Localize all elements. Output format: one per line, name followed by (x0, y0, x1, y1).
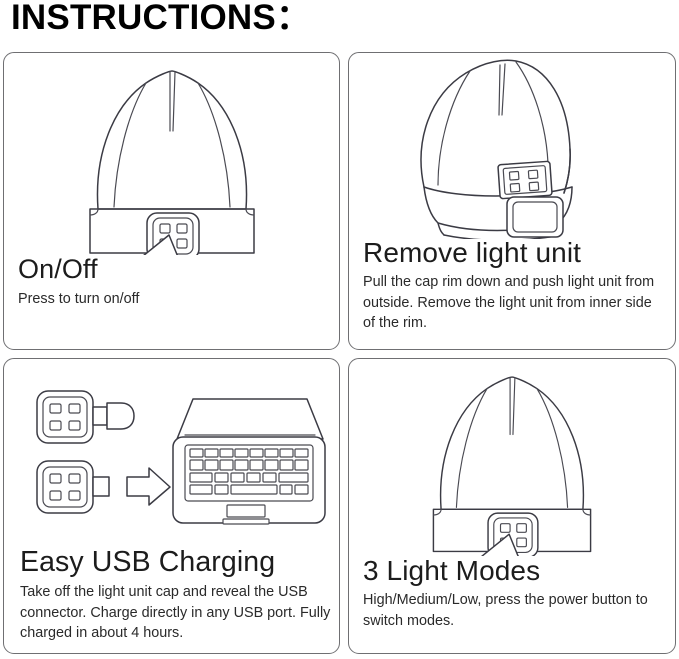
panel-heading: On/Off (18, 253, 327, 286)
panel-body: Take off the light unit cap and reveal t… (20, 582, 331, 644)
panel-remove-light-unit: Remove light unit Pull the cap rim down … (348, 52, 676, 350)
panel-body: High/Medium/Low, press the power button … (363, 590, 663, 631)
panel-body: Pull the cap rim down and push light uni… (363, 272, 663, 334)
illustration-beanie-press (4, 57, 339, 255)
caption-remove-light-unit: Remove light unit Pull the cap rim down … (363, 236, 663, 334)
panel-body: Press to turn on/off (18, 289, 327, 310)
panel-on-off: On/Off Press to turn on/off (3, 52, 340, 350)
laptop (173, 399, 325, 524)
panel-heading: Easy USB Charging (20, 546, 331, 579)
instructions-page: INSTRUCTIONS： (0, 0, 679, 659)
illustration-usb-charging (4, 377, 339, 547)
page-title: INSTRUCTIONS： (11, 0, 311, 40)
light-unit-capped (37, 391, 134, 443)
caption-three-light-modes: 3 Light Modes High/Medium/Low, press the… (363, 554, 663, 631)
panel-three-light-modes: 3 Light Modes High/Medium/Low, press the… (348, 358, 676, 654)
caption-easy-usb-charging: Easy USB Charging Take off the light uni… (20, 546, 331, 644)
panel-easy-usb-charging: Easy USB Charging Take off the light uni… (3, 358, 340, 654)
illustration-beanie-press-modes (349, 361, 675, 556)
panel-heading: Remove light unit (363, 236, 663, 269)
illustration-beanie-remove-unit (349, 53, 675, 239)
caption-on-off: On/Off Press to turn on/off (18, 253, 327, 310)
arrow-right (127, 468, 170, 505)
panel-heading: 3 Light Modes (363, 554, 663, 587)
light-unit-uncapped (37, 461, 109, 513)
